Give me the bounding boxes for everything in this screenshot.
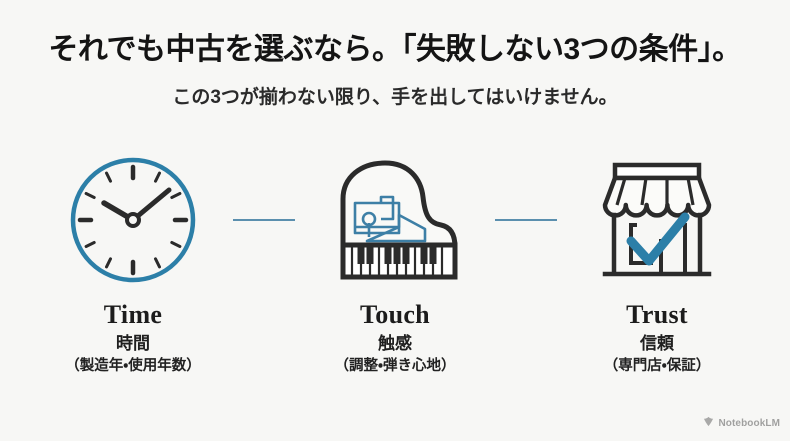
pillar-trust: Trust 信頼 （専門店・保証） [557, 145, 757, 375]
connector-line [233, 219, 295, 221]
pillar-label-jp: 信頼 [640, 335, 674, 354]
pillar-touch: Touch 触感 （調整・弾き心地） [295, 145, 495, 375]
pillar-label-en: Time [104, 301, 163, 330]
slide-canvas: それでも中古を選ぶなら。「失敗しない3つの条件」。 この3つが揃わない限り、手を… [0, 0, 790, 441]
clock-icon [58, 145, 208, 295]
pillar-row: Time 時間 （製造年・使用年数） [0, 145, 790, 405]
page-subtitle: この3つが揃わない限り、手を出してはいけません。 [0, 82, 790, 109]
pillar-time: Time 時間 （製造年・使用年数） [33, 145, 233, 375]
pillar-label-note: （調整・弾き心地） [335, 359, 456, 375]
storefront-check-icon [582, 145, 732, 295]
notebooklm-watermark: NotebookLM [703, 414, 780, 432]
page-title: それでも中古を選ぶなら。「失敗しない3つの条件」。 [0, 24, 790, 68]
connector-time-touch [233, 145, 295, 295]
pillar-label-en: Touch [360, 301, 430, 330]
pillar-label-jp: 時間 [116, 335, 150, 354]
watermark-label: NotebookLM [718, 418, 780, 429]
pillar-label-en: Trust [626, 301, 688, 330]
connector-line [495, 219, 557, 221]
connector-touch-trust [495, 145, 557, 295]
pillar-label-jp: 触感 [378, 335, 412, 354]
pillar-label-note: （専門店・保証） [604, 359, 710, 375]
notebooklm-logo-icon [703, 414, 714, 432]
grand-piano-icon [320, 145, 470, 295]
pillar-label-note: （製造年・使用年数） [65, 359, 200, 375]
